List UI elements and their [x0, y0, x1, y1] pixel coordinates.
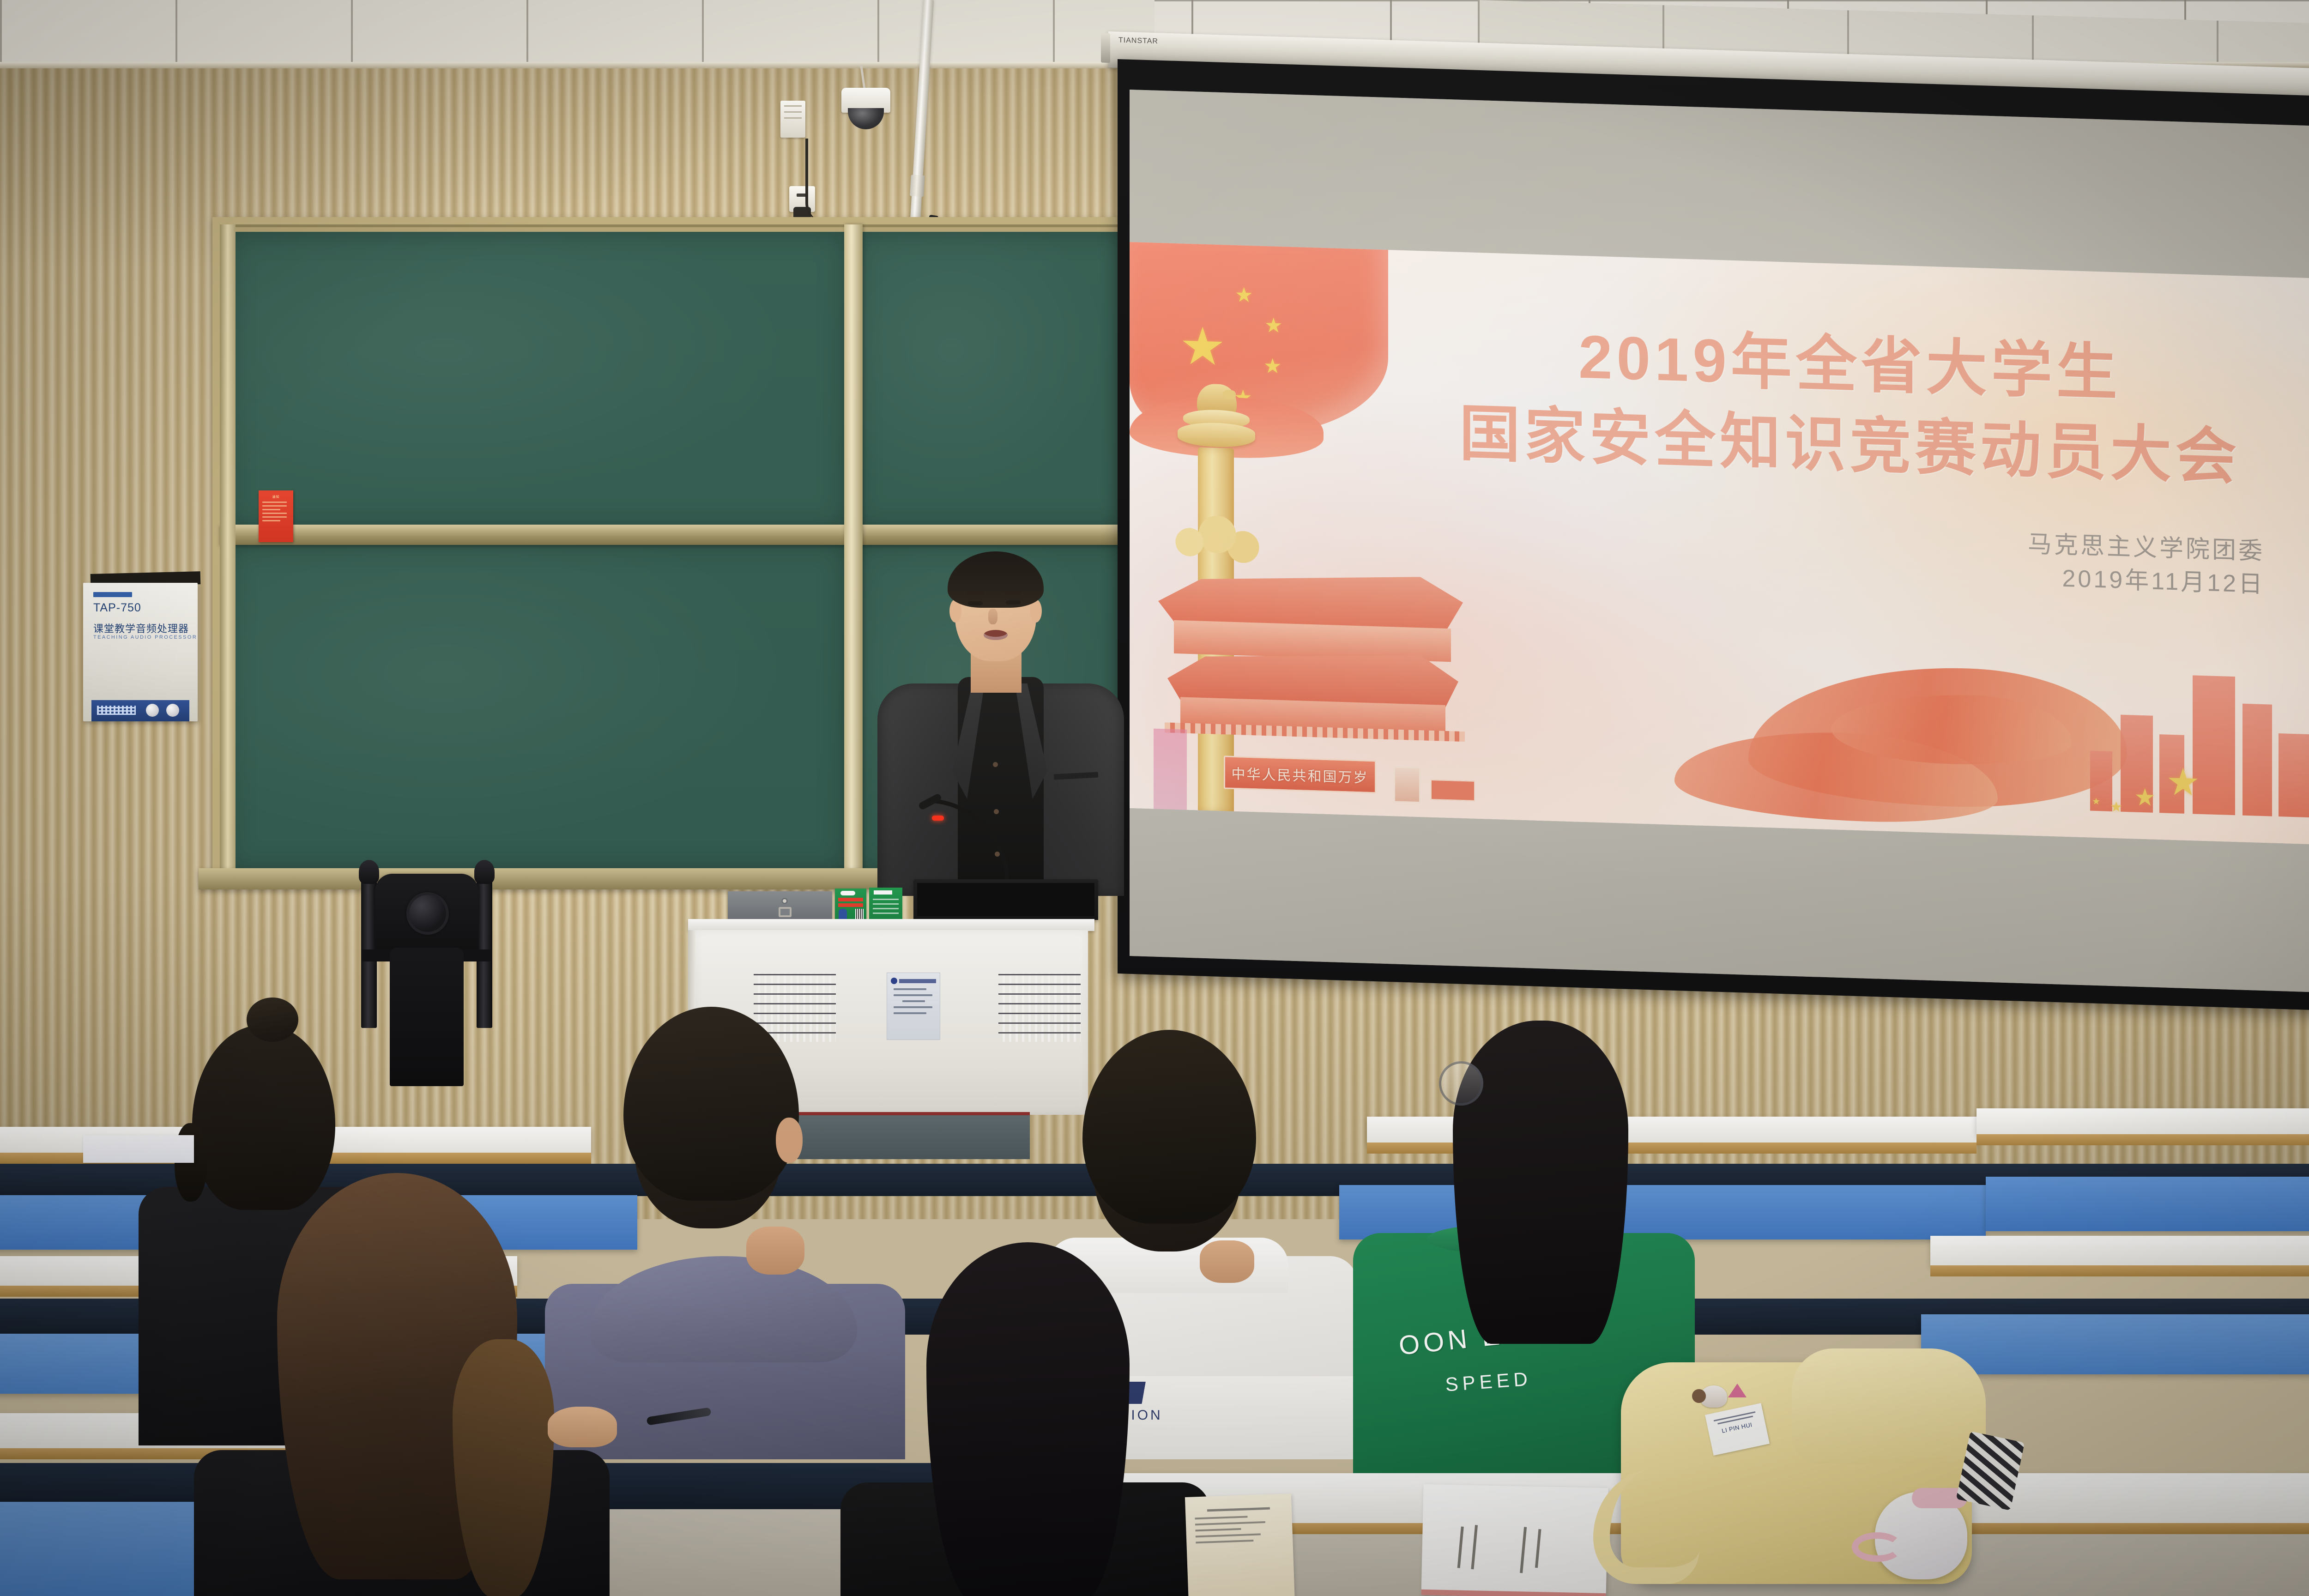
student-2-hood [589, 1256, 857, 1362]
dome-camera-icon [841, 88, 890, 133]
monitor-screen [917, 883, 1094, 916]
chalkboard-panel-3 [227, 543, 846, 870]
bench-row-a-right [1986, 1177, 2309, 1231]
lectern-monitor[interactable] [913, 879, 1098, 920]
tap-header-bar [93, 592, 132, 597]
lectern-top-surface [688, 919, 1094, 931]
slide-star-4: ★ [2092, 797, 2100, 807]
notebook-far-left[interactable] [83, 1135, 194, 1163]
hasp-icon [779, 907, 792, 917]
presentation-slide: ★ ★ ★ ★ ★ [1130, 242, 2309, 845]
microphone-led-indicator [932, 816, 944, 821]
student-4-glasses-icon [1439, 1061, 1483, 1106]
red-notice-poster: 通知 [259, 490, 293, 542]
student-hand [548, 1407, 617, 1447]
student-6-hair [926, 1242, 1130, 1596]
slide-star-1: ★ [2166, 763, 2200, 802]
presenter-mouth [984, 630, 1008, 640]
camera-dome [848, 108, 884, 129]
metal-cash-box[interactable] [728, 891, 832, 920]
chalkboard-panel-2 [853, 232, 1133, 527]
student-1-hair-bun [247, 997, 298, 1042]
paper-note-left[interactable] [1185, 1493, 1295, 1596]
student-5 [194, 1145, 610, 1596]
chair-post-right [477, 862, 492, 1028]
notice-title: 通知 [261, 495, 290, 499]
chinese-flag-icon: ★ ★ ★ ★ ★ [1130, 242, 1388, 439]
chalkboard-panel-1 [227, 232, 846, 527]
presenter [855, 545, 1142, 896]
chair-backrest [390, 948, 464, 1086]
tap-model-label: TAP-750 [93, 601, 141, 615]
gate-banner-text: 中华人民共和国万岁 [1224, 756, 1376, 793]
roller-brand-label: TIANSTAR [1118, 36, 1158, 46]
flag-star-large: ★ [1179, 320, 1226, 373]
classroom-scene: TAP-750 课堂教学音频处理器 TEACHING AUDIO PROCESS… [0, 0, 2309, 1596]
backpack[interactable]: LI PIN HUI [1593, 1330, 2009, 1589]
cable-upper [805, 139, 825, 222]
slide-star-2: ★ [2134, 785, 2156, 810]
tap-name-cn: 课堂教学音频处理器 [93, 621, 189, 635]
slide-subtitle: 马克思主义学院团委 2019年11月12日 [1868, 523, 2265, 602]
chalkboard-rail-left [220, 224, 236, 885]
paper-note-right[interactable] [1421, 1484, 1608, 1596]
tap-knob-2[interactable] [166, 704, 179, 717]
junction-box [780, 101, 805, 138]
gate-portrait [1394, 766, 1420, 803]
tiananmen-gate-icon: 中华人民共和国万岁 [1154, 550, 1477, 819]
flag-star-1: ★ [1235, 285, 1253, 306]
tap-control-panel[interactable] [91, 700, 189, 721]
desk-row-b-right [1930, 1236, 2309, 1266]
slide-star-3: ★ [2110, 800, 2122, 815]
student-3-hair [1082, 1030, 1256, 1224]
backpack-strap [1593, 1469, 1699, 1584]
bottle-loop [1852, 1532, 1903, 1562]
roller-end-cap [1101, 33, 1110, 63]
flag-star-3: ★ [1263, 356, 1281, 377]
student-5-hair-strand [453, 1339, 554, 1596]
ceiling-tiles-left [0, 0, 1154, 69]
tap-speaker-grid [97, 706, 136, 715]
student-2-hair [623, 1007, 799, 1201]
student-2-ear [776, 1118, 803, 1163]
chair-medallion [406, 892, 449, 935]
student-2-neck [746, 1227, 804, 1275]
backpack-flap [1792, 1348, 1986, 1464]
gate-right-banner [1431, 780, 1475, 801]
chalk-box-2[interactable] [869, 888, 902, 920]
projection-screen-surface: ★ ★ ★ ★ ★ [1130, 90, 2309, 993]
gate-left-banner [1154, 729, 1187, 811]
pin-bead [1692, 1389, 1706, 1403]
student-4-hair [1453, 1021, 1628, 1344]
presenter-hair [948, 551, 1044, 608]
tap-name-en: TEACHING AUDIO PROCESSOR [93, 635, 197, 640]
backpack-name-text: LI PIN HUI [1711, 1419, 1763, 1437]
chalk-box-1[interactable] [835, 889, 866, 920]
chalkboard-rail-horizontal [220, 525, 1148, 545]
student-6 [840, 1224, 1210, 1596]
pin-triangle [1728, 1384, 1747, 1397]
tap-knob-1[interactable] [146, 704, 159, 717]
city-skyline-icon [2004, 670, 2309, 818]
flag-star-2: ★ [1264, 315, 1282, 336]
slide-title: 2019年全省大学生 国家安全知识竞赛动员大会 [1453, 313, 2247, 498]
lock-icon [781, 898, 788, 904]
teaching-audio-processor[interactable]: TAP-750 课堂教学音频处理器 TEACHING AUDIO PROCESS… [83, 583, 198, 721]
desk-row-a-far-right [1977, 1108, 2309, 1135]
